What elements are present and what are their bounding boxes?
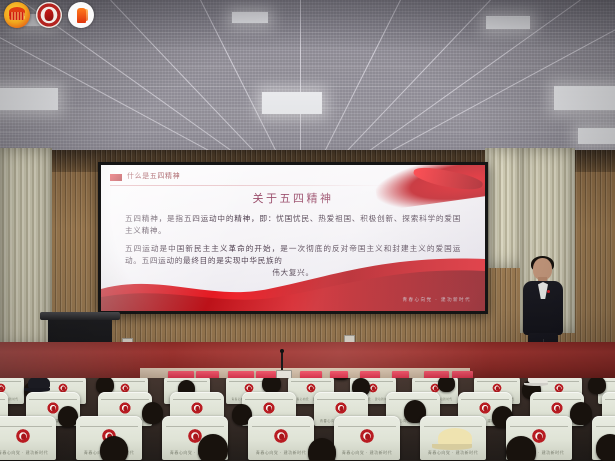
seat-cover-red-emblem-icon [263, 402, 274, 413]
audience-head [588, 378, 606, 394]
seat-cover-red-emblem-icon [191, 402, 202, 413]
communist-youth-league-emblem-icon [4, 2, 30, 28]
seat-cover-label: 青春心向党 · 建功新时代 [0, 450, 56, 456]
audience-black-cap [28, 378, 50, 390]
projection-screen: 什么是五四精神 关于五四精神 五四精神，是指五四运动中的精神，即：忧国忧民、热爱… [101, 165, 485, 311]
projection-screen-frame: 什么是五四精神 关于五四精神 五四精神，是指五四运动中的精神，即：忧国忧民、热爱… [98, 162, 488, 314]
seat-cover-red-emblem-icon [0, 383, 5, 392]
audience-head [596, 434, 615, 461]
audience-head [438, 378, 455, 392]
audience-head [198, 434, 228, 461]
slide-paragraph-1: 五四精神，是指五四运动中的精神，即：忧国忧民、热爱祖国、积极创新、探索科学的爱国… [125, 213, 461, 237]
seat-cover-red-emblem-icon [493, 383, 502, 392]
seat-cover-label: 青春心向党 · 建功新时代 [248, 450, 314, 456]
seat-cover-red-emblem-icon [245, 383, 254, 392]
slide-kicker-chip-icon [110, 174, 122, 181]
slide-title: 关于五四精神 [101, 190, 485, 206]
seat-cover-label: 青春心向党 · 建功新时代 [334, 450, 400, 456]
audience-head [506, 436, 536, 461]
watermark-badges [4, 2, 94, 28]
audience-section: 青春心向党 · 建功新时代青春心向党 · 建功新时代青春心向党 · 建功新时代青… [0, 378, 615, 461]
seat-cover-red-emblem-icon [551, 402, 562, 413]
audience-seat-cover: 青春心向党 · 建功新时代 [334, 416, 400, 460]
auditorium-photo: 什么是五四精神 关于五四精神 五四精神，是指五四运动中的精神，即：忧国忧民、热爱… [0, 0, 615, 461]
audience-white-cap [528, 378, 548, 384]
seat-cover-red-emblem-icon [479, 402, 490, 413]
seat-cover-red-emblem-icon [555, 383, 564, 392]
circular-red-seal-emblem-icon [36, 2, 62, 28]
presenter-lapel-pin-icon [547, 290, 550, 293]
seat-cover-red-emblem-icon [274, 429, 288, 443]
slide-kicker-text: 什么是五四精神 [127, 171, 180, 181]
audience-head [142, 402, 163, 424]
seat-cover-label: 青春心向党 · 建功新时代 [420, 450, 486, 456]
audience-head [308, 438, 336, 461]
slide-footer-text: 青春心向党 · 建功新时代 [402, 297, 471, 303]
audience-head [100, 436, 128, 461]
audience-yellow-cap [438, 428, 472, 448]
audience-head [262, 378, 281, 393]
seat-cover-red-emblem-icon [307, 383, 316, 392]
seat-cover-red-emblem-icon [360, 429, 374, 443]
seat-cover-red-emblem-icon [335, 402, 346, 413]
slide-kicker-rule [110, 185, 390, 186]
audience-head [570, 402, 592, 425]
seat-cover-red-emblem-icon [532, 429, 546, 443]
microphone-icon [281, 352, 283, 372]
seat-cover-red-emblem-icon [119, 402, 130, 413]
audience-seat-cover: 青春心向党 · 建功新时代 [248, 416, 314, 460]
seat-cover-red-emblem-icon [47, 402, 58, 413]
seat-cover-red-emblem-icon [16, 429, 30, 443]
curtain-right-inner [485, 148, 525, 268]
audience-seat-cover: 青春心向党 · 建功新时代 [0, 416, 56, 460]
orange-flame-app-icon [68, 2, 94, 28]
seat-cover-red-emblem-icon [121, 383, 130, 392]
podium-top [40, 312, 120, 320]
seat-cover-red-emblem-icon [59, 383, 68, 392]
audience-head [58, 406, 78, 427]
